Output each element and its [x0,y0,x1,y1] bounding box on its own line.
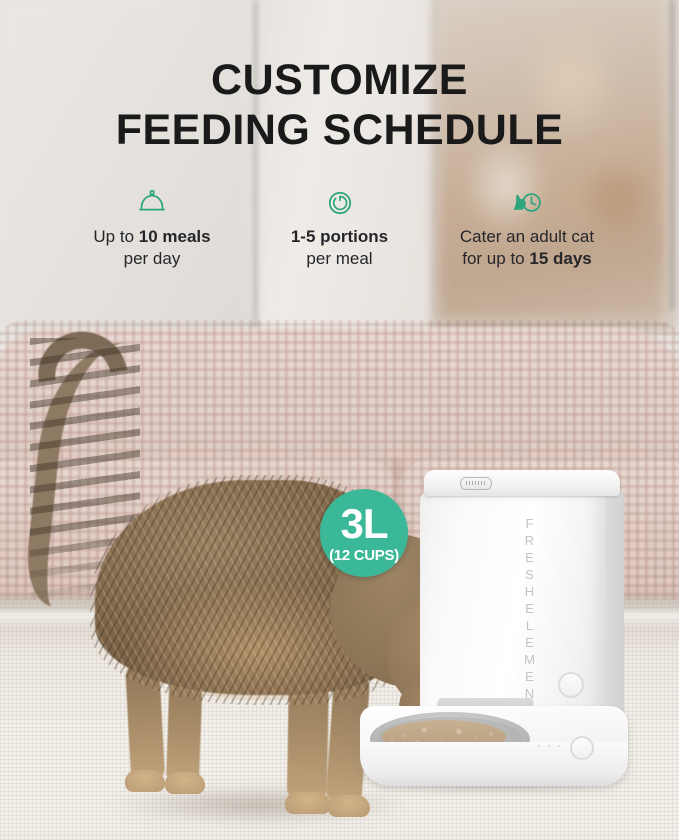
automatic-pet-feeder: FRESHELEMENT [418,470,638,790]
cloche-icon [64,186,240,220]
feeder-manual-feed-button[interactable] [570,736,594,760]
capacity-badge-value: 3L [340,503,387,545]
feeder-power-button[interactable] [558,672,584,698]
feature-portions-line-1: 1-5 portions [252,226,428,248]
feature-days-line-1: Cater an adult cat [439,226,615,248]
feature-days-text: Cater an adult cat for up to 15 days [439,226,615,270]
feature-meals-text: Up to 10 meals per day [64,226,240,270]
product-feature-banner: FRESHELEMENT 3L (12 CUPS) CUSTOMIZE FEED… [0,0,679,840]
headline-line-1: CUSTOMIZE [0,56,679,106]
cat-clock-icon [439,186,615,220]
painting-frame [432,0,676,330]
feature-meals-value: 10 meals [139,227,211,246]
feature-portions-line-2: per meal [252,248,428,270]
capacity-badge: 3L (12 CUPS) [320,489,408,577]
portion-circle-icon [252,186,428,220]
feeder-logo-plate [460,477,492,490]
feeder-lid[interactable] [424,470,620,496]
feature-meals-line-1: Up to 10 meals [64,226,240,248]
feeder-brand-text: FRESHELEMENT [514,516,536,686]
cat-paw [328,795,370,817]
feature-days-capacity: Cater an adult cat for up to 15 days [439,186,615,270]
cat-paw [125,770,165,792]
window-mullion [252,0,259,330]
cat-paw [165,772,205,794]
feature-portions-per-meal: 1-5 portions per meal [252,186,428,270]
capacity-badge-subvalue: (12 CUPS) [329,548,399,563]
feature-days-value: 15 days [529,249,591,268]
feature-days-line-2: for up to 15 days [439,248,615,270]
feature-days-prefix: for up to [462,249,529,268]
headline: CUSTOMIZE FEEDING SCHEDULE [0,56,679,156]
headline-line-2: FEEDING SCHEDULE [0,106,679,156]
feature-meals-line-2: per day [64,248,240,270]
feature-portions-text: 1-5 portions per meal [252,226,428,270]
cat-paw [285,792,331,814]
feature-portions-value: 1-5 portions [291,227,388,246]
window-pane [0,0,254,335]
feature-list: Up to 10 meals per day 1-5 portions per … [64,186,615,270]
feeder-status-leds [536,742,562,750]
feature-meals-per-day: Up to 10 meals per day [64,186,240,270]
feature-meals-prefix: Up to [93,227,138,246]
